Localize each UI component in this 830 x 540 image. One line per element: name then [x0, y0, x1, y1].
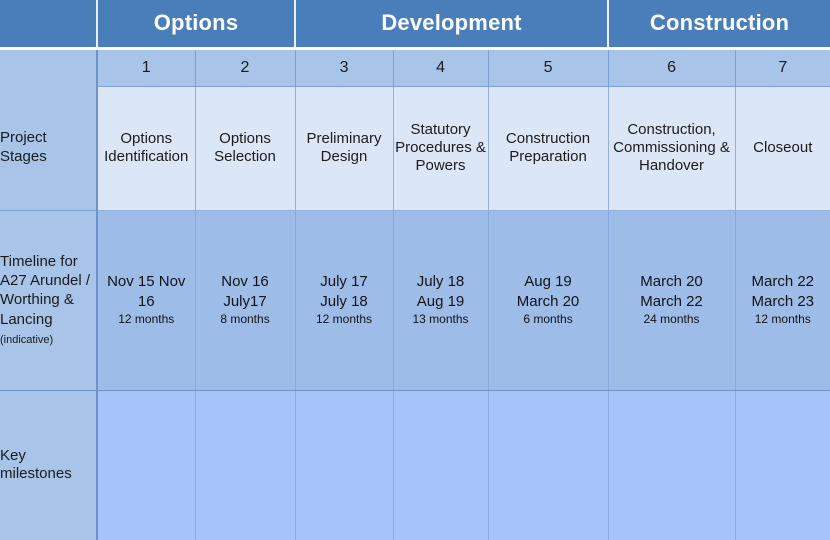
timeline-row: Timeline for A27 Arundel / Worthing & La… [0, 210, 830, 390]
timeline-start-5: Aug 19 [489, 272, 608, 292]
timeline-end-4: Aug 19 [394, 292, 488, 312]
timeline-end-1: 16 [98, 292, 195, 312]
timeline-start-1: Nov 15 Nov [98, 272, 195, 292]
stage-cell-3: Preliminary Design [295, 86, 393, 210]
stage-cell-4: Statutory Procedures & Powers [393, 86, 488, 210]
stage-number-4: 4 [393, 48, 488, 86]
timeline-duration-6: 24 months [609, 312, 735, 328]
timeline-end-2: July17 [196, 292, 295, 312]
timeline-start-3: July 17 [296, 272, 393, 292]
timeline-cell-5: Aug 19 March 20 6 months [488, 210, 608, 390]
stage-cell-6: Construction, Commissioning & Handover [608, 86, 735, 210]
timeline-duration-3: 12 months [296, 312, 393, 328]
stage-number-2: 2 [195, 48, 295, 86]
group-header-corner [0, 0, 97, 48]
timeline-end-3: July 18 [296, 292, 393, 312]
row-label-timeline-note: (indicative) [0, 334, 53, 346]
timeline-end-7: March 23 [736, 292, 830, 312]
stages-matrix: Options Development Construction 1 2 3 4… [0, 0, 830, 540]
row-label-key-milestones: Key milestones [0, 390, 97, 540]
group-header-development: Development [295, 0, 608, 48]
timeline-duration-7: 12 months [736, 312, 830, 328]
timeline-end-5: March 20 [489, 292, 608, 312]
timeline-cell-6: March 20 March 22 24 months [608, 210, 735, 390]
stage-number-3: 3 [295, 48, 393, 86]
stage-cell-2: Options Selection [195, 86, 295, 210]
row-label-project-stages: Project Stages [0, 86, 97, 210]
key-milestone-cell-7 [735, 390, 830, 540]
timeline-duration-1: 12 months [98, 312, 195, 328]
timeline-duration-5: 6 months [489, 312, 608, 328]
stage-cell-7: Closeout [735, 86, 830, 210]
project-stages-table: Options Development Construction 1 2 3 4… [0, 0, 830, 540]
stage-number-6: 6 [608, 48, 735, 86]
group-header-row: Options Development Construction [0, 0, 830, 48]
timeline-cell-3: July 17 July 18 12 months [295, 210, 393, 390]
key-milestone-cell-4 [393, 390, 488, 540]
timeline-duration-2: 8 months [196, 312, 295, 328]
timeline-start-4: July 18 [394, 272, 488, 292]
timeline-cell-2: Nov 16 July17 8 months [195, 210, 295, 390]
stage-cell-1: Options Identification [97, 86, 195, 210]
key-milestones-row: Key milestones [0, 390, 830, 540]
key-milestone-cell-1 [97, 390, 195, 540]
timeline-duration-4: 13 months [394, 312, 488, 328]
key-milestone-cell-3 [295, 390, 393, 540]
group-header-construction: Construction [608, 0, 830, 48]
stage-number-7: 7 [735, 48, 830, 86]
key-milestone-cell-6 [608, 390, 735, 540]
timeline-start-2: Nov 16 [196, 272, 295, 292]
timeline-start-7: March 22 [736, 272, 830, 292]
row-label-timeline: Timeline for A27 Arundel / Worthing & La… [0, 210, 97, 390]
stage-cell-5: Construction Preparation [488, 86, 608, 210]
row-label-timeline-main: Timeline for A27 Arundel / Worthing & La… [0, 253, 90, 328]
group-header-options: Options [97, 0, 295, 48]
project-stages-row: Project Stages Options Identification Op… [0, 86, 830, 210]
key-milestone-cell-2 [195, 390, 295, 540]
timeline-cell-4: July 18 Aug 19 13 months [393, 210, 488, 390]
stage-number-1: 1 [97, 48, 195, 86]
key-milestone-cell-5 [488, 390, 608, 540]
timeline-end-6: March 22 [609, 292, 735, 312]
timeline-start-6: March 20 [609, 272, 735, 292]
stage-number-corner [0, 48, 97, 86]
stage-number-5: 5 [488, 48, 608, 86]
timeline-cell-1: Nov 15 Nov 16 12 months [97, 210, 195, 390]
timeline-cell-7: March 22 March 23 12 months [735, 210, 830, 390]
stage-number-row: 1 2 3 4 5 6 7 [0, 48, 830, 86]
